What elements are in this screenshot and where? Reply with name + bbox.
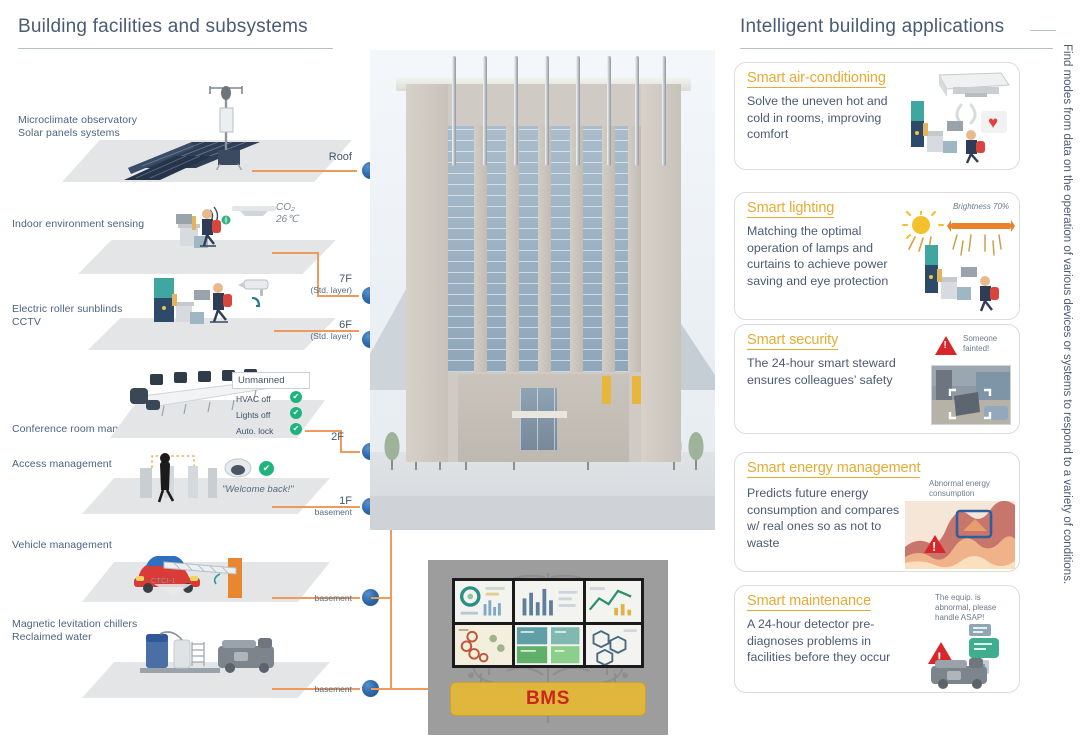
infographic-canvas: Building facilities and subsystems Intel… [0,0,1080,745]
facility-label-3-line2: CCTV [12,316,41,328]
chiller-plant-icon [134,618,286,682]
floor-label-5: 1F basement [290,496,352,518]
facility-label-6: Vehicle management [12,539,112,552]
app-card-3-heading: Smart security [747,332,838,350]
check-icon-2: ✔ [290,407,302,419]
floor-label-1: Roof [292,152,352,163]
facility-label-3-line1: Electric roller sunblinds [12,303,122,315]
floor-label-7: basement [290,684,352,695]
floor-label-2-sub: (Std. layer) [290,285,352,296]
floor-label-6-sub: basement [290,593,352,604]
access-welcome-message: "Welcome back!" [222,484,294,495]
bms-label-bar[interactable]: BMS [450,682,646,716]
floor-label-3-main: 6F [290,320,352,331]
access-gate-icon [134,446,282,508]
bms-label: BMS [526,688,570,710]
app-card-4-body: Predicts future energy consumption and c… [747,485,907,551]
floor-label-4: 2F [296,432,344,443]
floor-label-5-main: 1F [290,496,352,507]
sunblind-cctv-scene-icon [148,272,298,334]
roof-fin [635,56,639,166]
roof-fin [452,56,456,166]
floor-label-2: 7F (Std. layer) [290,274,352,296]
air-conditioning-illustration: ♥ [909,71,1013,163]
conference-status-row-3: Auto. lock [236,426,273,436]
security-camera-snapshot [931,365,1011,425]
dashboard-screen[interactable] [515,625,583,666]
weather-station-icon [196,78,256,170]
roof-fin [662,56,666,166]
app-card-1-body: Solve the uneven hot and cold in rooms, … [747,93,899,143]
facade-banner [602,376,611,404]
floor-label-5-sub: basement [290,507,352,518]
side-note-rule [1030,30,1056,31]
sensor-temp-value: 26℃ [276,214,298,225]
floor-label-4-main: 2F [296,432,344,443]
app-card-3-body: The 24-hour smart steward ensures collea… [747,355,899,388]
conference-status-row-2: Lights off [236,410,270,420]
right-panel-title: Intelligent building applications [740,16,1004,38]
sensor-readout: CO₂ 26℃ [276,202,298,226]
dashboard-screen[interactable] [515,581,583,622]
check-icon-1: ✔ [290,391,302,403]
conference-status-row-1: HVAC off [236,394,271,404]
connector-line-2a [272,252,318,254]
tree-icon [384,430,400,470]
right-title-rule [740,48,1053,49]
building-photo [370,50,715,530]
lighting-illustration [899,211,1015,313]
svg-text:!: ! [932,539,936,554]
app-card-4-note: Abnormal energy consumption [929,479,1013,499]
app-card-smart-maintenance[interactable]: Smart maintenance A 24-hour detector pre… [734,585,1020,693]
app-card-smart-air-conditioning[interactable]: Smart air-conditioning Solve the uneven … [734,62,1020,170]
maintenance-illustration: ! [911,624,1015,689]
conference-status-title: Unmanned [232,372,310,389]
left-panel-title: Building facilities and subsystems [18,16,308,38]
app-card-2-heading: Smart lighting [747,200,834,218]
energy-chart-illustration: ! [905,501,1015,569]
facility-label-7-line1: Magnetic levitation chillers [12,618,137,630]
bms-panel: BMS [428,560,668,735]
svg-text:♥: ♥ [988,113,998,132]
bus-stub-6 [371,597,391,599]
facade-banner [632,376,641,404]
facility-label-7-line2: Reclaimed water [12,631,92,643]
app-card-5-body: A 24-hour detector pre-diagnoses problem… [747,616,913,666]
lobby-glazing [520,388,557,450]
app-card-5-heading: Smart maintenance [747,593,871,611]
floor-label-2-main: 7F [290,274,352,285]
floor-label-3-sub: (Std. layer) [290,331,352,342]
facility-label-2-line1: Indoor environment sensing [12,218,144,230]
connector-line-1 [252,170,357,172]
floor-label-6: basement [290,593,352,604]
plaza-paving [370,496,715,530]
dashboard-screen[interactable] [455,625,512,666]
dashboard-screen[interactable] [586,581,641,622]
app-card-smart-lighting[interactable]: Smart lighting Matching the optimal oper… [734,192,1020,320]
facility-label-6-line1: Vehicle management [12,539,112,551]
side-note-text: Find modes from data on the operation of… [1040,44,1074,644]
facility-label-3: Electric roller sunblinds CCTV [12,303,122,329]
facility-label-1-line2: Solar panels systems [18,127,120,139]
corner-pier-left [406,84,448,462]
left-title-rule [18,48,333,49]
tower-mass [406,84,681,462]
facility-label-5: Access management [12,458,112,471]
dashboard-screen[interactable] [455,581,512,622]
vehicle-plate-number: CTCI-1 [151,578,176,585]
roof-fin [607,56,611,166]
floor-label-3: 6F (Std. layer) [290,320,352,342]
app-card-smart-energy-management[interactable]: Smart energy management Predicts future … [734,452,1020,572]
app-card-5-note: The equip. is abnormal, please handle AS… [935,593,1013,623]
app-card-1-heading: Smart air-conditioning [747,70,886,88]
corner-pier-right [641,84,681,462]
floor-label-7-sub: basement [290,684,352,695]
facility-label-2: Indoor environment sensing [12,218,144,231]
app-card-3-note: Someone fainted! [963,334,1011,354]
sensor-gas-value: CO₂ [276,202,295,213]
facility-label-1-line1: Microclimate observatory [18,114,137,126]
roof-fin [514,56,518,166]
warning-triangle-icon [935,336,957,355]
bms-dashboard-screens [452,578,644,668]
roof-fin [576,56,580,166]
roof-fin [483,56,487,166]
tree-icon [688,436,704,470]
app-card-4-heading: Smart energy management [747,460,920,478]
facility-label-7: Magnetic levitation chillers Reclaimed w… [12,618,137,644]
floor-label-1-main: Roof [292,152,352,163]
dashboard-screen[interactable] [586,625,641,666]
entrance-canopy [512,411,567,418]
app-card-2-body: Matching the optimal operation of lamps … [747,223,905,289]
facility-label-5-line1: Access management [12,458,112,470]
access-check-icon: ✔ [259,461,274,476]
vehicle-barrier-icon [124,540,276,602]
app-card-smart-security[interactable]: Smart security The 24-hour smart steward… [734,324,1020,434]
roof-fin [545,56,549,166]
connector-line-4c [340,451,360,453]
